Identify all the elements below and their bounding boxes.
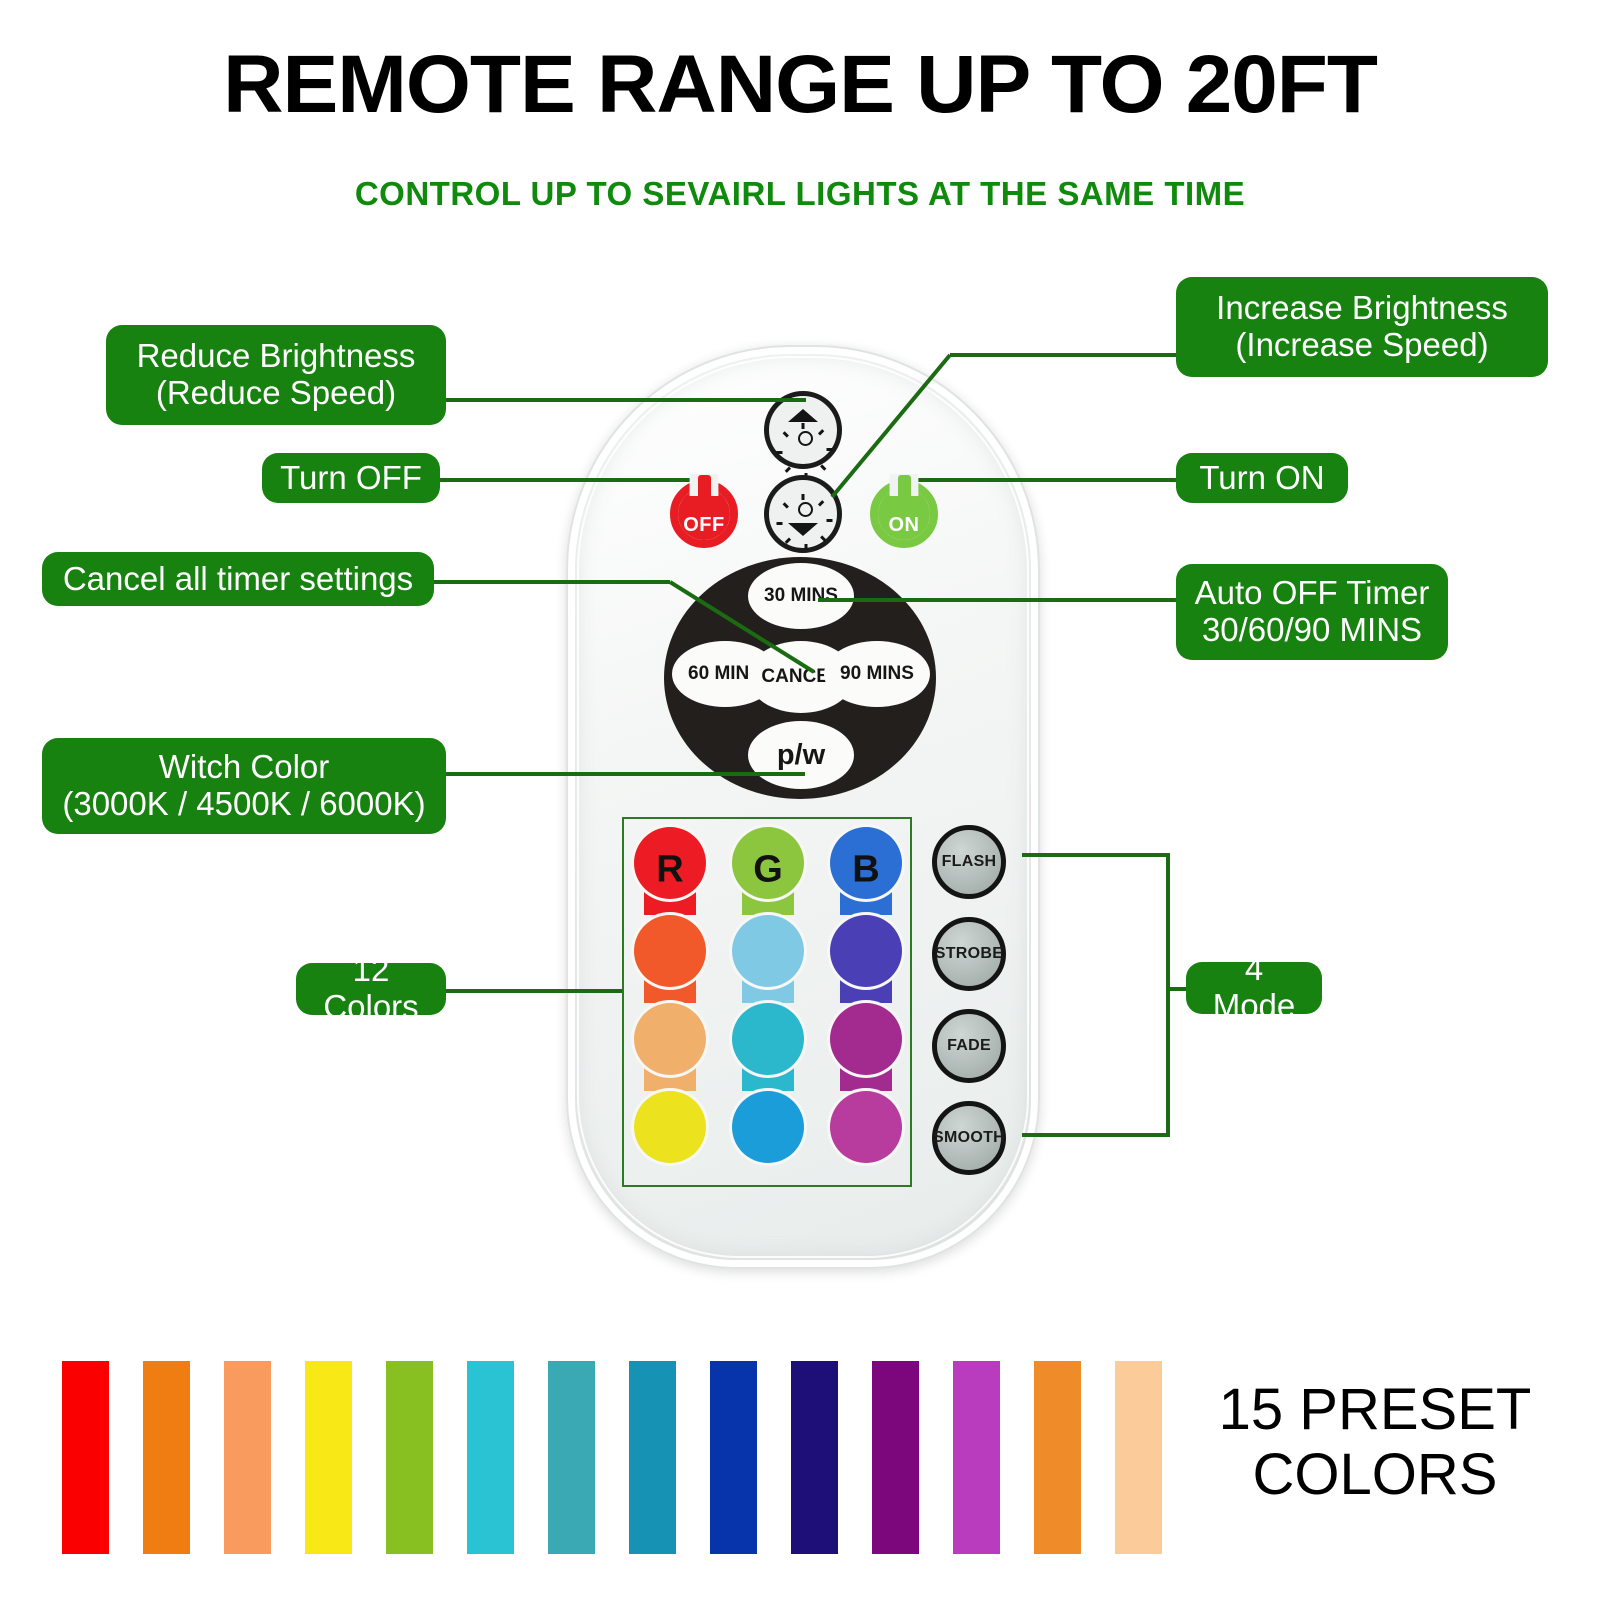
color-letter-g: G	[732, 849, 804, 892]
connector-12-colors	[440, 989, 622, 993]
preset-colors-caption: 15 PRESET COLORS	[1160, 1378, 1590, 1508]
preset-swatch	[143, 1361, 190, 1554]
color-button-g[interactable]: G	[732, 827, 804, 915]
callout-increase-brightness: Increase Brightness (Increase Speed)	[1176, 277, 1548, 377]
callout-4-mode: 4 Mode	[1186, 962, 1322, 1014]
mode-flash-button[interactable]: FLASH	[932, 825, 1006, 899]
connector-mode-stub	[1166, 987, 1188, 991]
color-button-light-orange[interactable]	[634, 1003, 706, 1091]
brightness-up-button[interactable]	[764, 391, 842, 469]
preset-swatch	[62, 1361, 109, 1554]
color-button-cyan[interactable]	[732, 1003, 804, 1091]
color-temperature-pw-button[interactable]: p/w	[748, 721, 854, 789]
preset-swatch	[305, 1361, 352, 1554]
timer-90-mins-button[interactable]: 90 MINS	[824, 641, 930, 707]
power-off-label: OFF	[664, 514, 744, 537]
color-button-r[interactable]: R	[634, 827, 706, 915]
power-off-button[interactable]: OFF	[664, 474, 744, 554]
preset-swatch	[386, 1361, 433, 1554]
callout-auto-off-timer: Auto OFF Timer 30/60/90 MINS	[1176, 564, 1448, 660]
color-button-b[interactable]: B	[830, 827, 902, 915]
color-button-magenta[interactable]	[830, 1003, 902, 1091]
callout-witch-color: Witch Color (3000K / 4500K / 6000K)	[42, 738, 446, 834]
mode-smooth-button[interactable]: SMOOTH	[932, 1101, 1006, 1175]
preset-swatch	[710, 1361, 757, 1554]
callout-turn-on: Turn ON	[1176, 453, 1348, 503]
mode-fade-button[interactable]: FADE	[932, 1009, 1006, 1083]
preset-swatch	[791, 1361, 838, 1554]
connector-turn-on	[912, 478, 1180, 482]
power-stem-icon	[698, 475, 711, 505]
preset-swatch	[224, 1361, 271, 1554]
preset-swatch	[467, 1361, 514, 1554]
callout-cancel-timer: Cancel all timer settings	[42, 552, 434, 606]
page-title: REMOTE RANGE UP TO 20FT	[0, 38, 1600, 132]
connector-mode-top	[1022, 853, 1170, 857]
connector-turn-off	[437, 478, 713, 482]
preset-swatch	[548, 1361, 595, 1554]
connector-reduce-brightness	[443, 398, 806, 402]
infographic-canvas: REMOTE RANGE UP TO 20FT CONTROL UP TO SE…	[0, 0, 1600, 1600]
color-buttons-panel: R G	[622, 817, 912, 1187]
preset-swatch	[1034, 1361, 1081, 1554]
brightness-sun-icon	[788, 422, 818, 452]
power-stem-icon	[898, 475, 911, 505]
connector-auto-off-timer	[818, 598, 1182, 602]
preset-swatch	[1115, 1361, 1162, 1554]
callout-12-colors: 12 Colors	[296, 963, 446, 1015]
brightness-sun-icon	[788, 493, 818, 523]
triangle-down-icon	[788, 523, 818, 536]
preset-swatch	[629, 1361, 676, 1554]
color-button-indigo[interactable]	[830, 915, 902, 1003]
color-letter-b: B	[830, 849, 902, 892]
color-button-light-blue[interactable]	[732, 915, 804, 1003]
preset-swatch	[953, 1361, 1000, 1554]
preset-swatch	[872, 1361, 919, 1554]
power-on-label: ON	[864, 514, 944, 537]
callout-turn-off: Turn OFF	[262, 453, 440, 503]
triangle-up-icon	[788, 409, 818, 422]
mode-strobe-button[interactable]: STROBE	[932, 917, 1006, 991]
color-button-azure[interactable]	[732, 1091, 804, 1171]
connector-witch-color	[443, 772, 805, 776]
page-subtitle: CONTROL UP TO SEVAIRL LIGHTS AT THE SAME…	[0, 175, 1600, 213]
connector-cancel-timer	[430, 560, 820, 690]
color-button-orange[interactable]	[634, 915, 706, 1003]
color-button-pink[interactable]	[830, 1091, 902, 1171]
connector-mode-bottom	[1022, 1133, 1170, 1137]
color-letter-r: R	[634, 849, 706, 892]
callout-reduce-brightness: Reduce Brightness (Reduce Speed)	[106, 325, 446, 425]
color-button-yellow[interactable]	[634, 1091, 706, 1171]
connector-mode-vertical	[1166, 853, 1170, 1137]
brightness-down-button[interactable]	[764, 475, 842, 553]
